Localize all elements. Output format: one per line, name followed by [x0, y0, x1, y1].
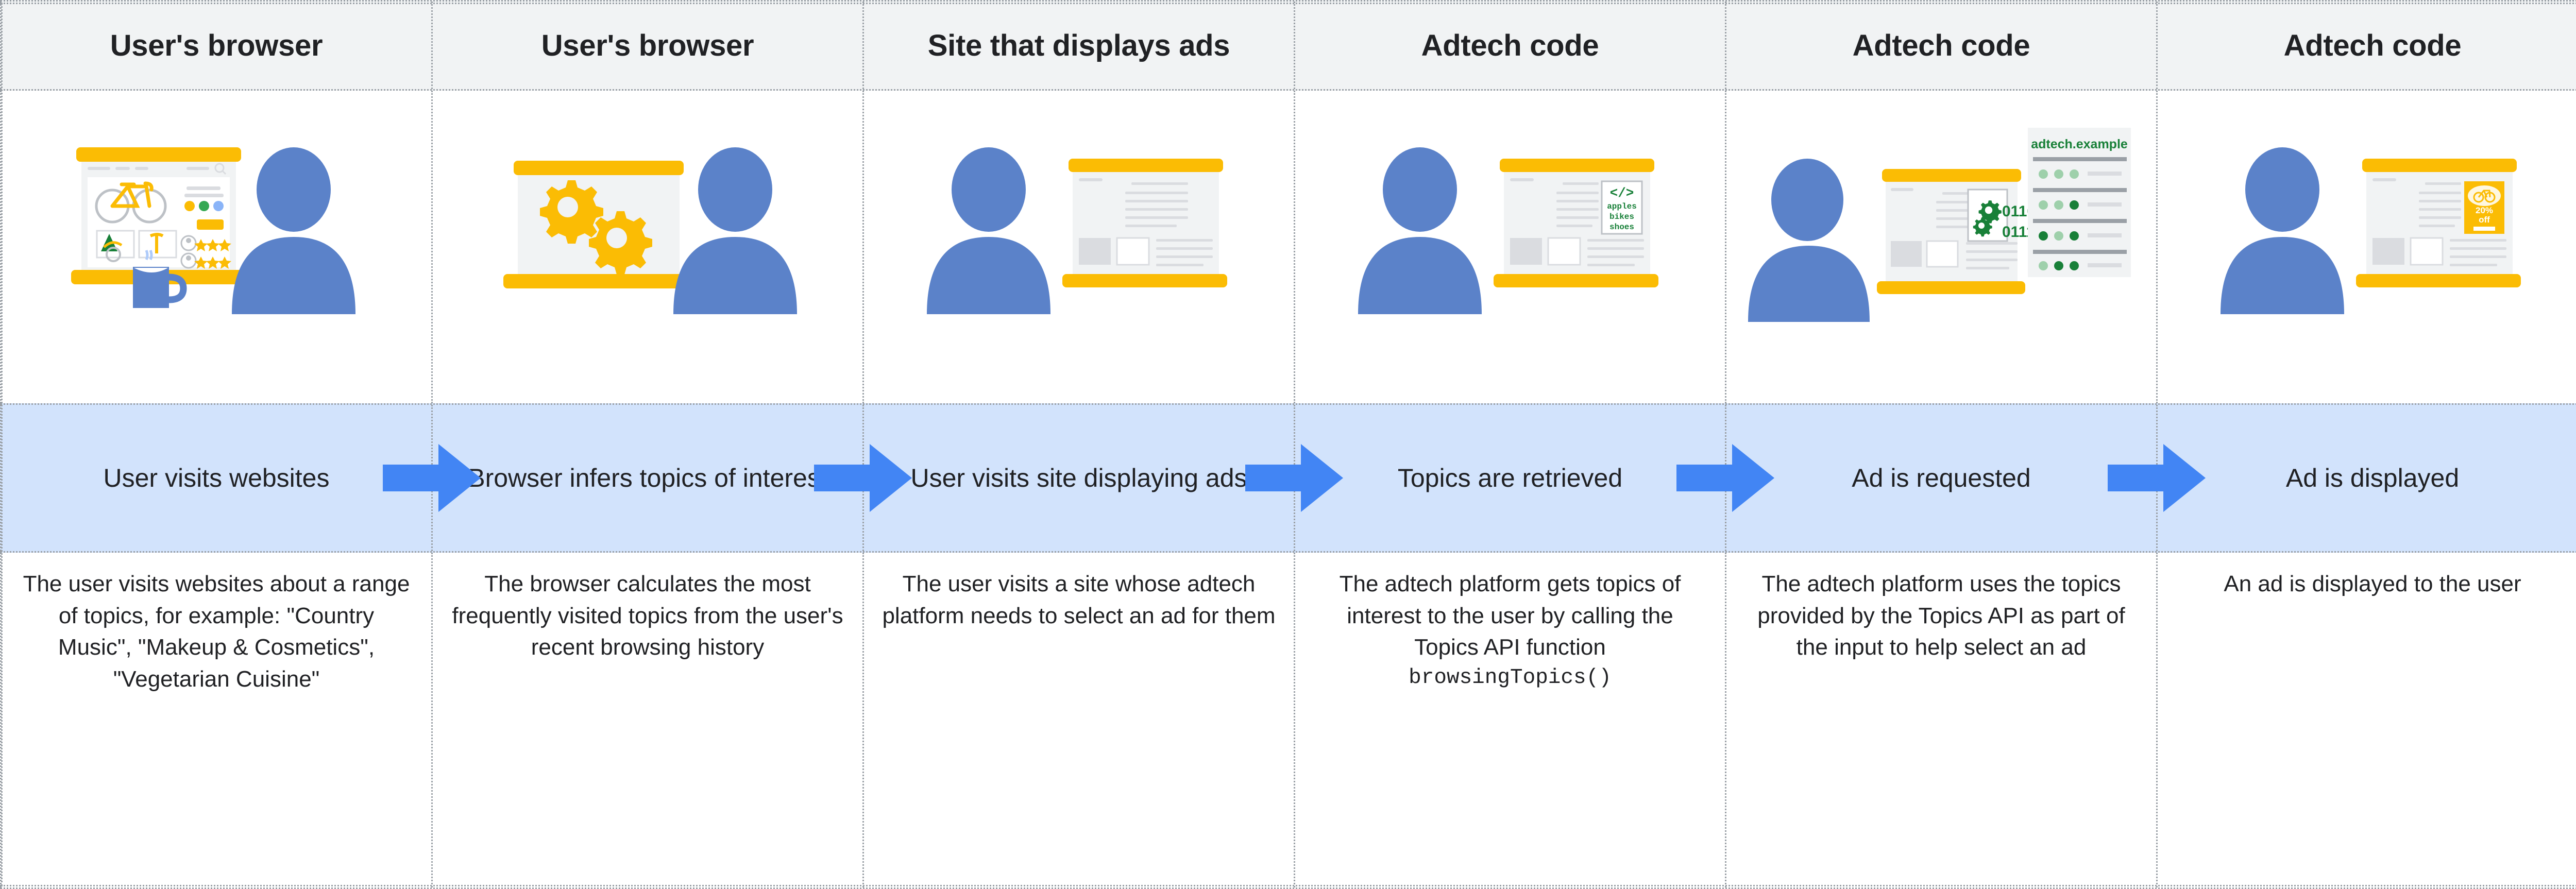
step-cell-1: User visits websites	[0, 405, 433, 551]
illustration-cell-6: 20% off	[2156, 91, 2576, 403]
ad-discount-suffix-label: off	[2479, 215, 2490, 225]
header-cell-2: User's browser	[431, 2, 864, 89]
ad-discount-label: 20%	[2476, 206, 2493, 215]
description-text: The user visits a site whose adtech plat…	[882, 568, 1276, 631]
topic-label-bikes: bikes	[1609, 212, 1634, 221]
header-cell-5: Adtech code	[1725, 2, 2158, 89]
figure-top-border	[0, 3, 2576, 4]
description-code: browsingTopics()	[1313, 663, 1707, 693]
person-with-adtech-example-panel-icon: 0110 0111 adtech.example	[1745, 113, 2137, 381]
person-at-page-with-bicycle-ad-icon: 20% off	[2192, 129, 2553, 366]
illustration-cell-3	[862, 91, 1295, 403]
header-cell-6: Adtech code	[2156, 2, 2576, 89]
illustration-cell-2	[431, 91, 864, 403]
person-at-article-page-icon	[899, 129, 1259, 366]
step-cell-4: Topics are retrieved	[1294, 405, 1726, 551]
description-row: The user visits websites about a range o…	[0, 553, 2576, 889]
description-cell-3: The user visits a site whose adtech plat…	[862, 553, 1295, 887]
description-cell-5: The adtech platform uses the topics prov…	[1725, 553, 2158, 887]
illustration-site-displaying-ads	[864, 91, 1294, 403]
step-label: User visits site displaying ads	[879, 460, 1278, 495]
topic-label-shoes: shoes	[1609, 223, 1634, 232]
description-cell-1: The user visits websites about a range o…	[0, 553, 433, 887]
step-cell-2: Browser infers topics of interest	[431, 405, 864, 551]
step-label: Browser infers topics of interest	[437, 460, 858, 495]
step-label: Ad is requested	[1821, 460, 2061, 495]
step-label: Topics are retrieved	[1367, 460, 1653, 495]
illustration-ad-requested: 0110 0111 adtech.example	[1726, 91, 2156, 403]
column-header-label: Adtech code	[1853, 28, 2030, 63]
description-cell-2: The browser calculates the most frequent…	[431, 553, 864, 887]
step-label: Ad is displayed	[2255, 460, 2490, 495]
person-at-shopping-site-icon	[36, 129, 397, 366]
step-cell-6: Ad is displayed	[2156, 405, 2576, 551]
description-text: The user visits websites about a range o…	[19, 568, 414, 695]
illustration-cell-1	[0, 91, 433, 403]
code-tag-label: </>	[1610, 185, 1634, 201]
description-text: An ad is displayed to the user	[2175, 568, 2570, 600]
topics-api-flow-diagram: User's browser User's browser Site that …	[0, 0, 2576, 889]
illustration-ad-displayed: 20% off	[2158, 91, 2576, 403]
header-cell-4: Adtech code	[1294, 2, 1726, 89]
adtech-panel-title: adtech.example	[2031, 137, 2128, 151]
topic-label-apples: apples	[1607, 202, 1637, 211]
column-header-label: Adtech code	[1421, 28, 1599, 63]
description-text: The adtech platform uses the topics prov…	[1744, 568, 2139, 663]
figure-left-border	[1, 3, 3, 886]
column-header-label: User's browser	[541, 28, 754, 63]
header-cell-3: Site that displays ads	[862, 2, 1295, 89]
column-header-label: User's browser	[110, 28, 323, 63]
illustration-cell-5: 0110 0111 adtech.example	[1725, 91, 2158, 403]
illustration-user-shopping	[2, 91, 431, 403]
step-cell-3: User visits site displaying ads	[862, 405, 1295, 551]
figure-bottom-border	[0, 885, 2576, 886]
step-band-row: User visits websites Browser infers topi…	[0, 403, 2576, 553]
step-label: User visits websites	[73, 460, 361, 495]
illustration-browser-infers-topics	[433, 91, 862, 403]
header-cell-1: User's browser	[0, 2, 433, 89]
header-row: User's browser User's browser Site that …	[0, 0, 2576, 91]
description-cell-4: The adtech platform gets topics of inter…	[1294, 553, 1726, 887]
step-cell-5: Ad is requested	[1725, 405, 2158, 551]
illustration-cell-4: </> apples bikes shoes	[1294, 91, 1726, 403]
illustration-topics-retrieved: </> apples bikes shoes	[1295, 91, 1725, 403]
column-header-label: Site that displays ads	[928, 28, 1230, 63]
column-header-label: Adtech code	[2284, 28, 2462, 63]
description-cell-6: An ad is displayed to the user	[2156, 553, 2576, 887]
illustration-row: </> apples bikes shoes	[0, 91, 2576, 403]
person-at-page-with-code-topics-icon: </> apples bikes shoes	[1330, 129, 1690, 366]
description-text: The adtech platform gets topics of inter…	[1313, 568, 1707, 663]
description-text: The browser calculates the most frequent…	[450, 568, 845, 663]
person-at-laptop-with-gears-icon	[467, 129, 828, 366]
